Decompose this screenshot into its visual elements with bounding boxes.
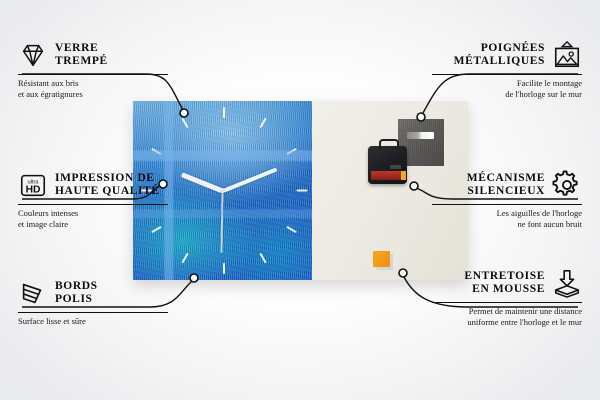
divider: [432, 302, 582, 303]
product-photo: [133, 101, 468, 280]
clock-tick: [296, 190, 307, 192]
clock-tick: [223, 263, 225, 274]
feature-bords-polis: BORDS POLIS Surface lisse et sûre: [18, 278, 168, 327]
clock-tick: [286, 226, 297, 233]
clock-tick: [286, 148, 297, 155]
clock-tick: [181, 118, 188, 129]
gear-icon: [552, 170, 582, 200]
divider: [18, 204, 168, 205]
movement-hanging-loop: [379, 139, 399, 150]
feature-impression-haute-qualite: ultra HD IMPRESSION DE HAUTE QUALITÉ Cou…: [18, 170, 168, 229]
feature-description: Résistant aux bris et aux égratignures: [18, 78, 168, 99]
picture-frame-hook-icon: [552, 40, 582, 70]
feature-description: Facilite le montage de l'horloge sur le …: [432, 78, 582, 99]
feature-poignees-metalliques: POIGNÉES MÉTALLIQUES Facilite le montage…: [432, 40, 582, 99]
divider: [432, 74, 582, 75]
clock-tick: [259, 118, 266, 129]
arrow-down-pad-icon: [552, 268, 582, 298]
infographic-canvas: VERRE TREMPÉ Résistant aux bris et aux é…: [0, 0, 600, 400]
feature-entretoise-en-mousse: ENTRETOISE EN MOUSSE Permet de maintenir…: [432, 268, 582, 327]
polished-edge-icon: [18, 278, 48, 308]
feature-description: Surface lisse et sûre: [18, 316, 168, 327]
svg-text:HD: HD: [26, 185, 41, 196]
feature-description: Permet de maintenir une distance uniform…: [432, 306, 582, 327]
clock-tick: [259, 253, 266, 264]
battery: [371, 171, 404, 180]
divider: [432, 204, 582, 205]
diamond-icon: [18, 40, 48, 70]
clock-second-hand: [221, 190, 224, 252]
clock-tick: [151, 148, 162, 155]
feature-title: ENTRETOISE EN MOUSSE: [464, 270, 545, 296]
clock-minute-hand: [222, 167, 277, 192]
ultra-hd-icon: ultra HD: [18, 170, 48, 200]
feature-title: VERRE TREMPÉ: [55, 42, 108, 68]
clock-tick: [223, 107, 225, 118]
hanger-slot: [407, 132, 434, 139]
feature-title: IMPRESSION DE HAUTE QUALITÉ: [55, 172, 160, 198]
feature-title: BORDS POLIS: [55, 280, 98, 306]
feature-mecanisme-silencieux: MÉCANISME SILENCIEUX Les aiguilles de l'…: [432, 170, 582, 229]
divider: [18, 74, 168, 75]
feature-title: MÉCANISME SILENCIEUX: [467, 172, 545, 198]
clock-tick: [181, 253, 188, 264]
clock-movement: [368, 146, 407, 184]
clock-center-hub: [220, 188, 225, 193]
feature-description: Les aiguilles de l'horloge ne font aucun…: [432, 208, 582, 229]
divider: [18, 312, 168, 313]
movement-detail: [390, 165, 401, 169]
battery-terminal: [401, 171, 406, 180]
foam-spacer: [373, 251, 390, 267]
feature-title: POIGNÉES MÉTALLIQUES: [454, 42, 545, 68]
feature-verre-trempe: VERRE TREMPÉ Résistant aux bris et aux é…: [18, 40, 168, 99]
feature-description: Couleurs intenses et image claire: [18, 208, 168, 229]
clock-hour-hand: [181, 172, 224, 193]
